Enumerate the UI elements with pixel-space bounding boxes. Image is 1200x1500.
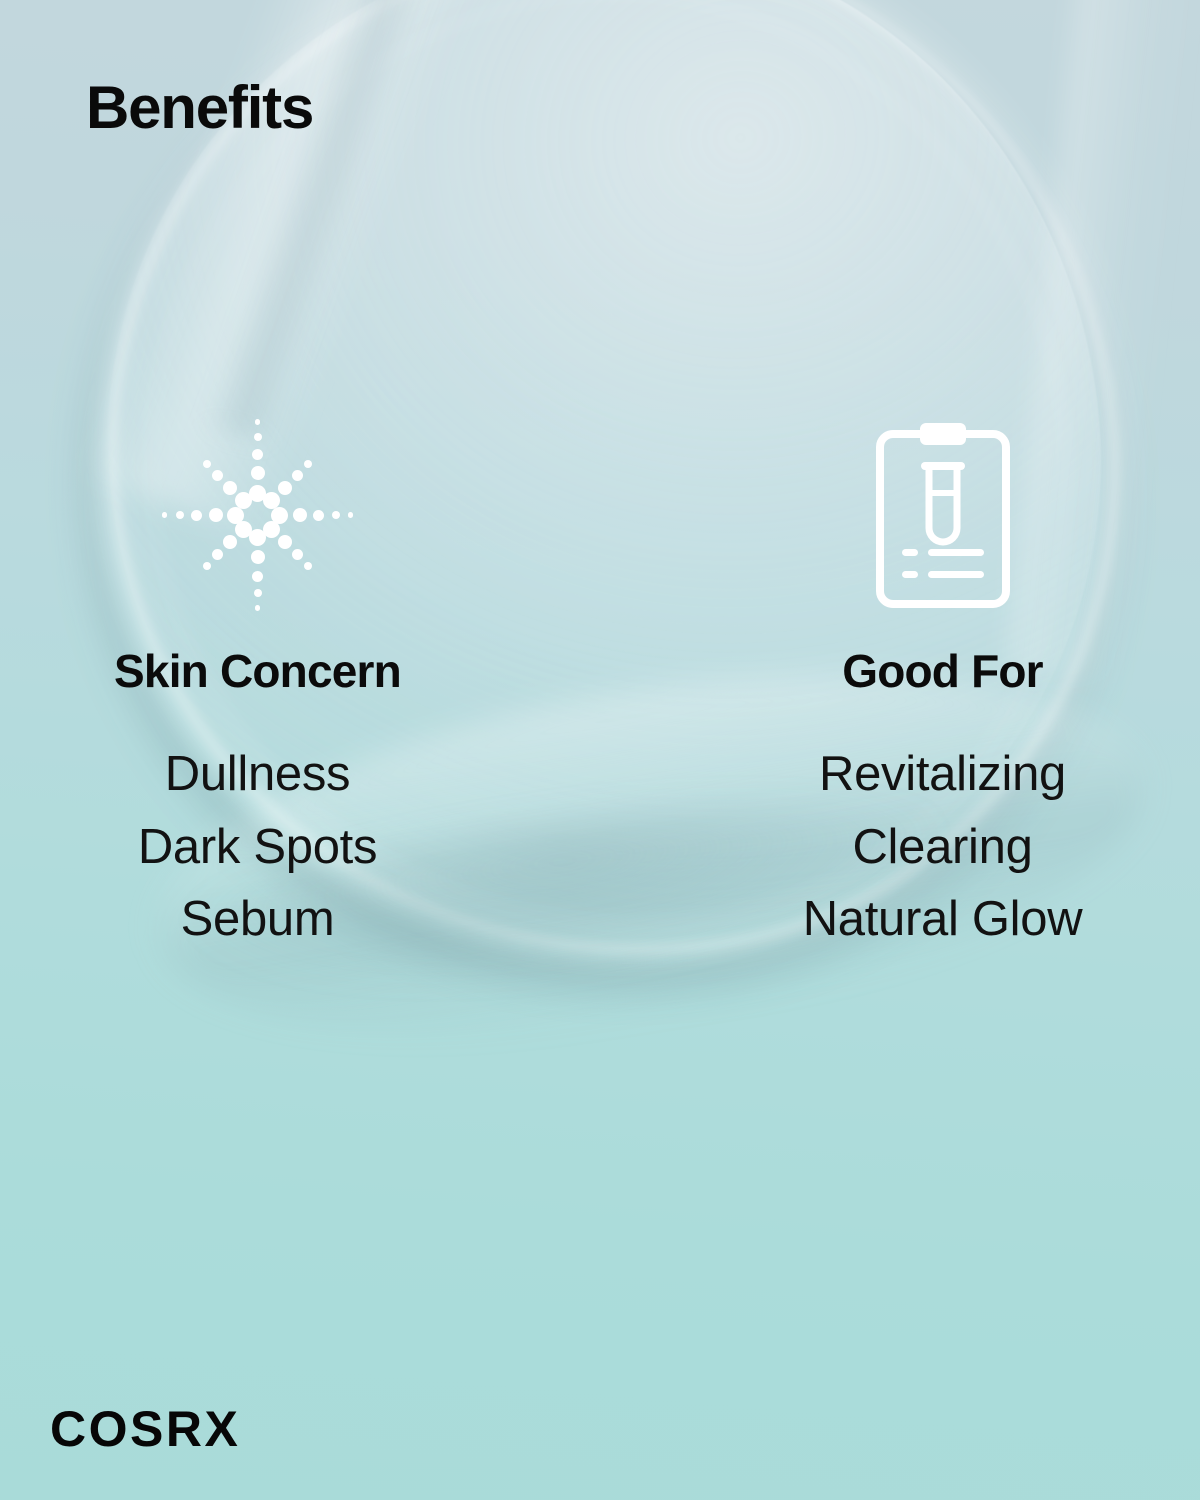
column-heading-skin-concern: Skin Concern xyxy=(114,648,401,694)
list-item: Dullness xyxy=(138,738,377,811)
list-item: Natural Glow xyxy=(803,883,1083,956)
list-item: Dark Spots xyxy=(138,811,377,884)
clipboard-test-tube-icon xyxy=(874,400,1012,630)
list-item: Sebum xyxy=(138,883,377,956)
page-title: Benefits xyxy=(86,78,313,138)
list-item: Revitalizing xyxy=(803,738,1083,811)
sparkle-burst-dots xyxy=(158,415,358,615)
brand-logo: COSRX xyxy=(50,1404,240,1454)
benefit-column-skin-concern: Skin Concern Dullness Dark Spots Sebum xyxy=(0,400,585,972)
benefit-list-skin-concern: Dullness Dark Spots Sebum xyxy=(138,738,377,956)
benefits-columns: Skin Concern Dullness Dark Spots Sebum xyxy=(0,400,1200,972)
list-item: Clearing xyxy=(803,811,1083,884)
benefit-list-good-for: Revitalizing Clearing Natural Glow xyxy=(803,738,1083,956)
benefits-infographic: Benefits Skin Concern Dullness Dark Spot… xyxy=(0,0,1200,1500)
benefit-column-good-for: Good For Revitalizing Clearing Natural G… xyxy=(585,400,1200,972)
column-heading-good-for: Good For xyxy=(842,648,1043,694)
clipboard-test-tube-glyph xyxy=(874,420,1012,610)
sparkle-burst-icon xyxy=(158,400,358,630)
